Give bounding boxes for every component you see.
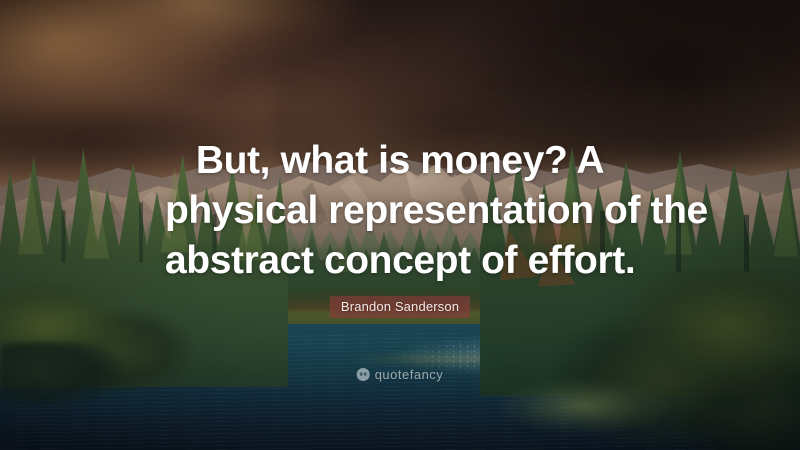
quotefancy-watermark[interactable]: quotefancy <box>357 368 444 381</box>
author-name: Brandon Sanderson <box>330 296 470 318</box>
text-overlay: But, what is money? A physical represent… <box>0 0 800 450</box>
quote-image-card: But, what is money? A physical represent… <box>0 0 800 450</box>
quote-line-2: physical representation of the <box>165 186 635 236</box>
quote-mark-icon <box>357 368 370 381</box>
author-attribution: Brandon Sanderson <box>330 296 470 318</box>
quote-line-1: But, what is money? A <box>165 136 635 186</box>
quote-line-3: abstract concept of effort. <box>165 236 635 286</box>
quote-text-block: But, what is money? A physical represent… <box>165 136 635 286</box>
watermark-label: quotefancy <box>375 368 444 381</box>
